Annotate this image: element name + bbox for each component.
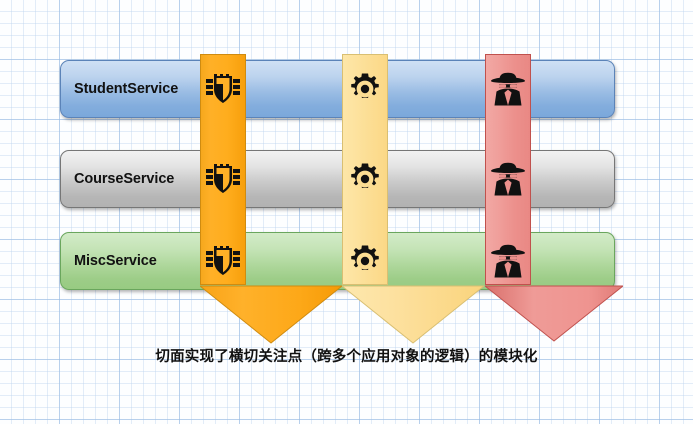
service-label-student-service: StudentService — [74, 81, 178, 97]
service-label-course-service: CourseService — [74, 171, 174, 187]
service-label-misc-service: MiscService — [74, 253, 157, 269]
service-box-course-service[interactable]: CourseService — [60, 150, 615, 208]
gear-icon — [342, 66, 388, 112]
aspect-arrowhead-logging — [342, 285, 484, 345]
gear-icon — [342, 156, 388, 202]
diagram-canvas: StudentService CourseService MiscService — [0, 0, 693, 424]
shield-firewall-icon — [200, 66, 246, 112]
aspect-arrowhead-security — [200, 285, 342, 345]
service-box-student-service[interactable]: StudentService — [60, 60, 615, 118]
service-box-misc-service[interactable]: MiscService — [60, 232, 615, 290]
diagram-caption: 切面实现了横切关注点（跨多个应用对象的逻辑）的模块化 — [0, 345, 693, 366]
spy-detective-icon — [485, 66, 531, 112]
spy-detective-icon — [485, 156, 531, 202]
spy-detective-icon — [485, 238, 531, 284]
shield-firewall-icon — [200, 156, 246, 202]
aspect-arrowhead-monitoring — [485, 285, 623, 343]
shield-firewall-icon — [200, 238, 246, 284]
gear-icon — [342, 238, 388, 284]
